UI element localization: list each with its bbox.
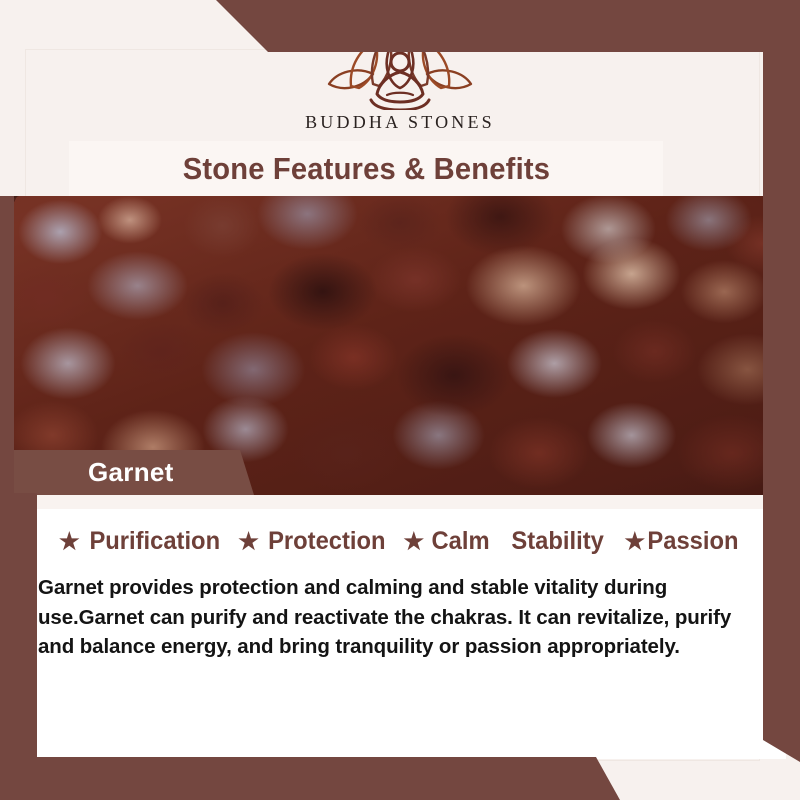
feature-item-protection: ★ Protection	[238, 527, 388, 556]
card-top-strip	[14, 495, 786, 509]
feature-label: Calm	[432, 527, 490, 556]
feature-label: Purification	[89, 527, 220, 556]
feature-item-stability: Stability	[509, 527, 606, 556]
title-banner: Stone Features & Benefits	[69, 141, 663, 196]
star-icon: ★	[59, 530, 80, 553]
star-icon: ★	[238, 530, 259, 553]
frame-right-bar	[763, 0, 800, 800]
feature-list: ★ Purification ★ Protection ★ Calm Stabi…	[14, 527, 786, 556]
feature-label: Passion	[647, 527, 738, 556]
brand-name: BUDDHA STONES	[305, 112, 495, 133]
star-icon: ★	[624, 530, 645, 553]
page-title: Stone Features & Benefits	[182, 151, 549, 187]
poster-canvas: BUDDHA STONES Stone Features & Benefits …	[0, 0, 800, 800]
feature-item-passion: ★ Passion	[624, 527, 741, 556]
frame-left-lower-bar	[0, 493, 37, 800]
stone-description: Garnet provides protection and calming a…	[38, 573, 754, 662]
feature-item-purification: ★ Purification	[59, 527, 223, 556]
feature-item-calm: ★ Calm	[403, 527, 491, 556]
stone-name-badge: Garnet	[14, 450, 254, 495]
feature-label: Protection	[268, 527, 385, 556]
stone-name-text: Garnet	[88, 457, 174, 488]
star-icon: ★	[403, 530, 424, 553]
feature-label: Stability	[512, 527, 604, 556]
